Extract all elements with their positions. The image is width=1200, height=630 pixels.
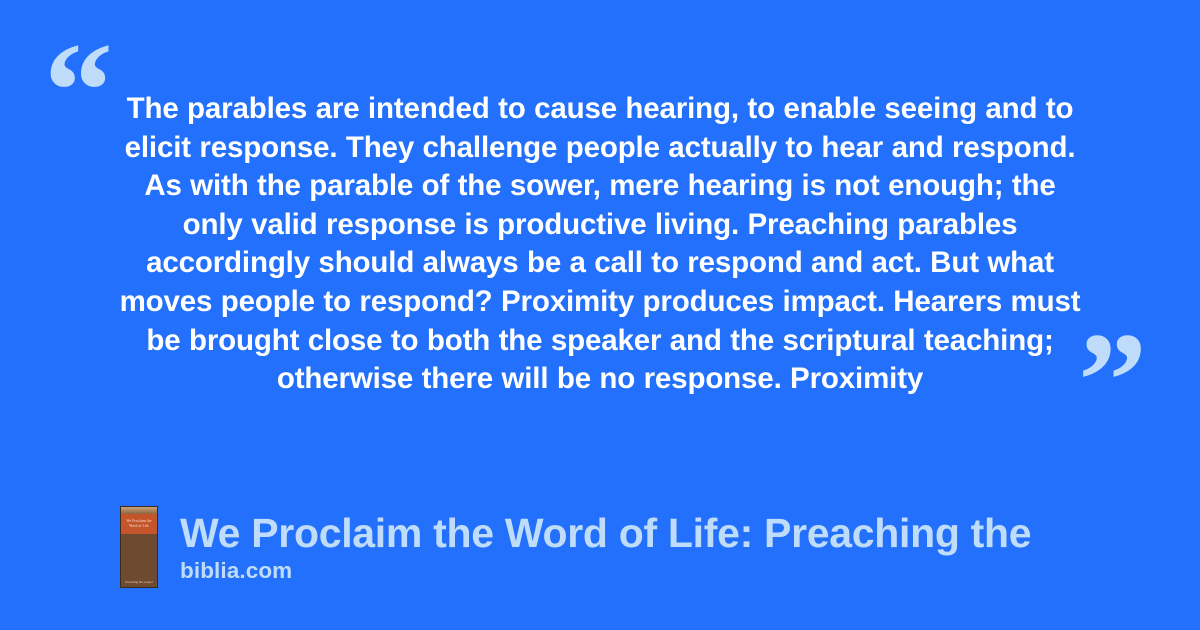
closing-quote-icon: ”: [1078, 312, 1145, 450]
cover-title-banner: We Proclaim the Word of Life: [121, 514, 157, 534]
book-cover-thumbnail: We Proclaim the Word of Life Preaching t…: [120, 506, 158, 588]
quote-block: The parables are intended to cause heari…: [112, 90, 1088, 399]
book-title: We Proclaim the Word of Life: Preaching …: [180, 510, 1031, 556]
quote-text: The parables are intended to cause heari…: [112, 90, 1088, 399]
opening-quote-icon: “: [44, 22, 111, 160]
footer: We Proclaim the Word of Life Preaching t…: [120, 506, 1031, 588]
cover-bottom-caption: Preaching the Gospel: [121, 580, 157, 584]
site-name: biblia.com: [180, 558, 1031, 584]
footer-text-group: We Proclaim the Word of Life: Preaching …: [180, 506, 1031, 584]
cover-banner-line-2: Word of Life: [129, 524, 149, 529]
cover-top-strip: [121, 507, 157, 514]
quote-card: “ The parables are intended to cause hea…: [0, 0, 1200, 630]
